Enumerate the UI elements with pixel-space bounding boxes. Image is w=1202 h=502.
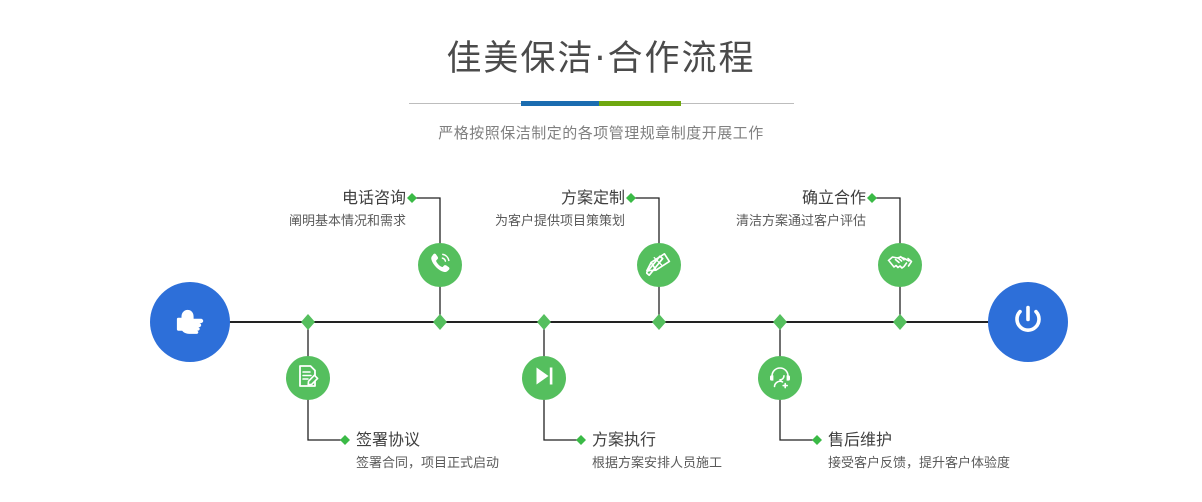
power-icon [1006,298,1050,346]
pencil-ruler-icon [646,250,672,280]
step-label-1: 电话咨询 阐明基本情况和需求 [289,190,406,228]
axis-diamond-1 [433,314,447,330]
step-title-4: 方案执行 [592,432,722,448]
step-desc-3: 为客户提供项目策策划 [495,215,625,228]
step-title-2: 签署协议 [356,432,499,448]
connector-lines [0,0,1202,502]
step-node-6[interactable] [758,356,802,400]
step-node-5[interactable] [878,243,922,287]
axis-diamond-2 [301,314,315,330]
customer-service-icon [767,363,793,393]
step-desc-5: 清洁方案通过客户评估 [736,215,866,228]
label-diamond-6 [812,435,822,445]
label-diamond-2 [340,435,350,445]
label-diamond-4 [576,435,586,445]
step-label-4: 方案执行 根据方案安排人员施工 [592,432,722,470]
phone-call-icon [427,250,453,280]
step-title-5: 确立合作 [736,190,866,206]
flow-infographic: 佳美保洁·合作流程 严格按照保洁制定的各项管理规章制度开展工作 [0,0,1202,502]
step-title-3: 方案定制 [495,190,625,206]
label-diamond-3 [626,193,636,203]
step-desc-1: 阐明基本情况和需求 [289,215,406,228]
axis-diamond-3 [652,314,666,330]
step-label-3: 方案定制 为客户提供项目策策划 [495,190,625,228]
timeline-diagram: 电话咨询 阐明基本情况和需求 签署协议 签署合同，项目正式启动 [0,0,1202,502]
step-desc-6: 接受客户反馈，提升客户体验度 [828,457,1010,470]
step-label-5: 确立合作 清洁方案通过客户评估 [736,190,866,228]
step-desc-2: 签署合同，项目正式启动 [356,457,499,470]
sign-document-icon [295,363,321,393]
axis-diamond-5 [893,314,907,330]
axis-diamond-6 [773,314,787,330]
step-label-6: 售后维护 接受客户反馈，提升客户体验度 [828,432,1010,470]
handshake-icon [886,249,914,281]
start-node[interactable] [150,282,230,362]
label-markers [340,193,877,445]
axis-diamond-4 [537,314,551,330]
label-diamond-5 [867,193,877,203]
step-node-1[interactable] [418,243,462,287]
step-title-1: 电话咨询 [289,190,406,206]
step-title-6: 售后维护 [828,432,1010,448]
end-node[interactable] [988,282,1068,362]
pointing-hand-icon [168,298,212,346]
step-node-2[interactable] [286,356,330,400]
step-node-3[interactable] [637,243,681,287]
step-desc-4: 根据方案安排人员施工 [592,457,722,470]
step-node-4[interactable] [522,356,566,400]
play-skip-icon [531,363,557,393]
step-label-2: 签署协议 签署合同，项目正式启动 [356,432,499,470]
label-diamond-1 [407,193,417,203]
